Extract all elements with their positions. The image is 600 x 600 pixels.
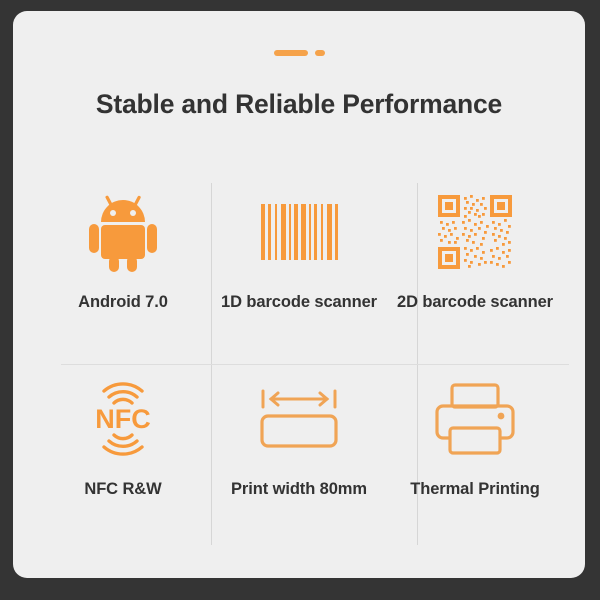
qr-code-2d-icon xyxy=(438,171,512,293)
feature-label: 1D barcode scanner xyxy=(221,293,377,312)
feature-label: NFC R&W xyxy=(84,480,161,499)
feature-cell-1d-barcode: 1D barcode scanner xyxy=(211,171,387,358)
feature-row: Android 7.0 xyxy=(35,171,563,358)
feature-label: Thermal Printing xyxy=(410,480,540,499)
android-robot-icon xyxy=(87,171,159,293)
feature-row: NFC NFC R&W xyxy=(35,358,563,545)
feature-label: Android 7.0 xyxy=(78,293,168,312)
screenshot-frame: Stable and Reliable Performance xyxy=(0,0,600,600)
print-width-arrow-icon xyxy=(257,358,341,480)
decoration-long-dash xyxy=(274,50,308,56)
thermal-printer-icon xyxy=(432,358,518,480)
barcode-1d-icon xyxy=(259,171,339,293)
feature-label: Print width 80mm xyxy=(231,480,367,499)
feature-cell-nfc: NFC NFC R&W xyxy=(35,358,211,545)
feature-cell-2d-barcode: 2D barcode scanner xyxy=(387,171,563,358)
feature-cell-print-width: Print width 80mm xyxy=(211,358,387,545)
decoration-short-dash xyxy=(315,50,325,56)
feature-grid: Android 7.0 xyxy=(35,171,563,546)
feature-label: 2D barcode scanner xyxy=(397,293,553,312)
nfc-wave-icon: NFC xyxy=(84,358,162,480)
nfc-icon-text: NFC xyxy=(95,404,151,434)
header-decoration xyxy=(13,47,585,59)
feature-card: Stable and Reliable Performance xyxy=(13,11,585,578)
feature-cell-thermal-printing: Thermal Printing xyxy=(387,358,563,545)
page-title: Stable and Reliable Performance xyxy=(13,89,585,120)
feature-cell-android: Android 7.0 xyxy=(35,171,211,358)
